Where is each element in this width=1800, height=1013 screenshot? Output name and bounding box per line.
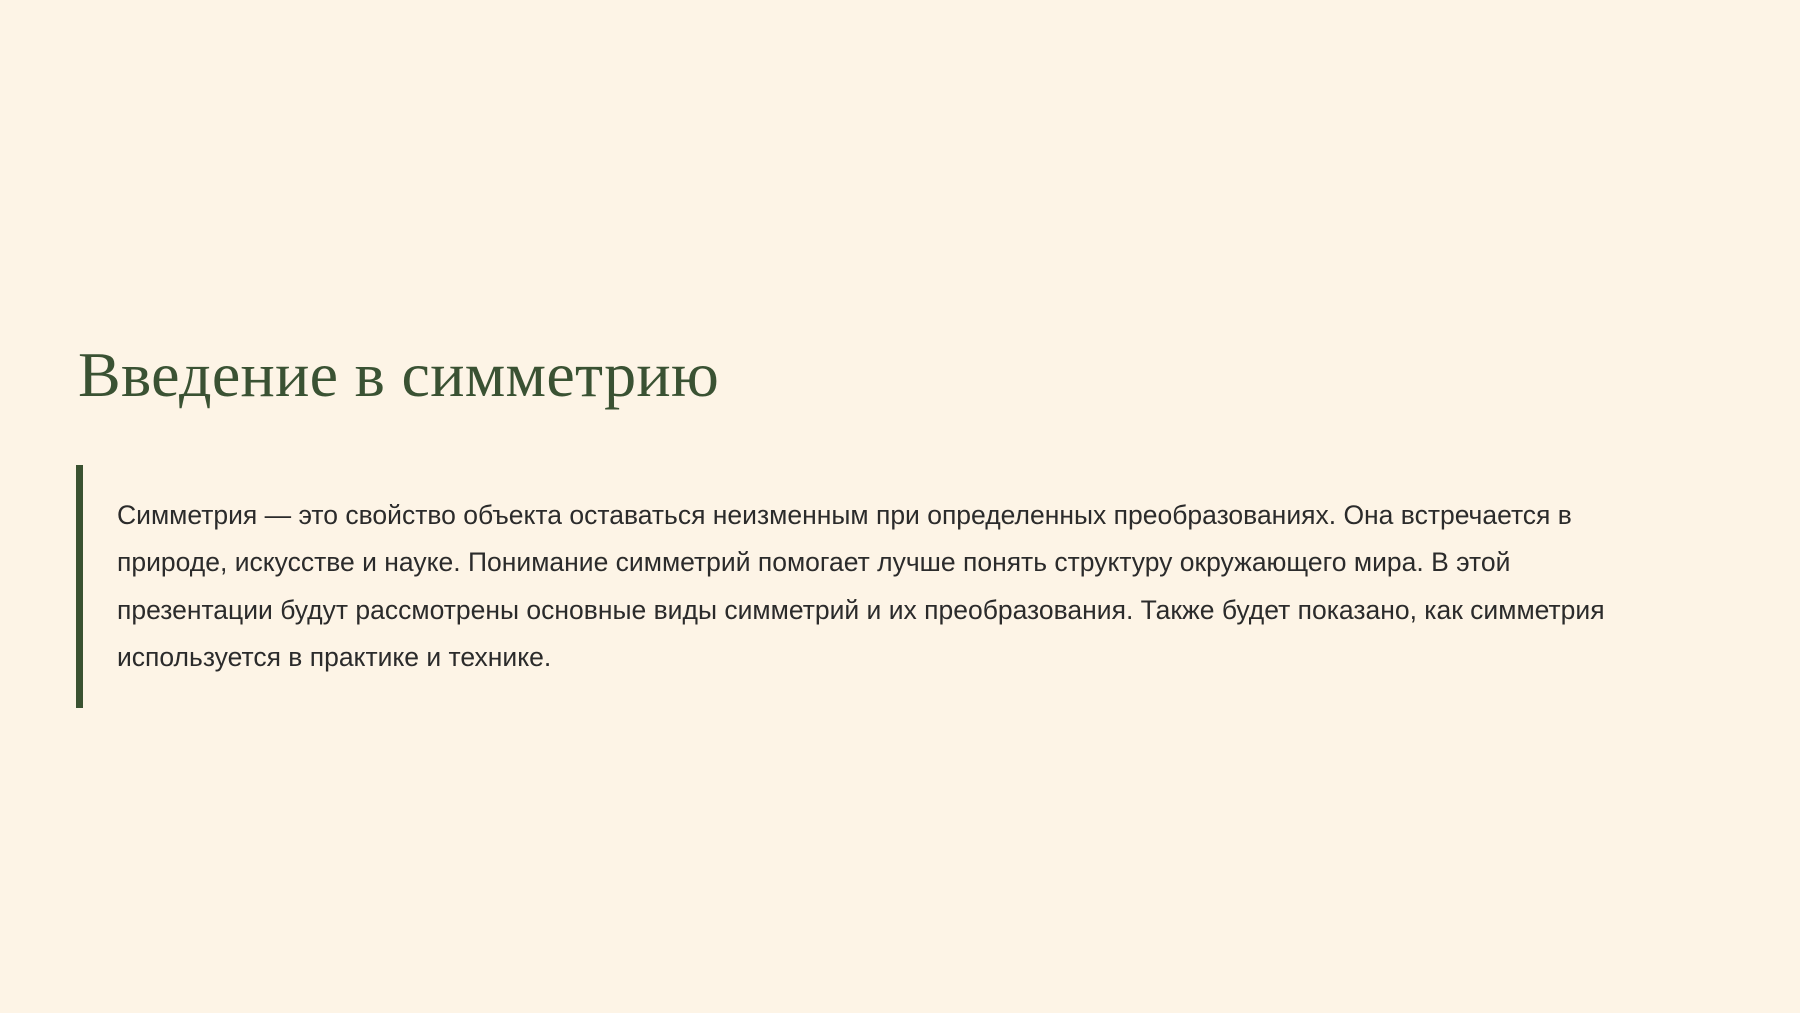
quote-block: Симметрия — это свойство объекта остават…: [76, 465, 1708, 708]
page-title: Введение в симметрию: [78, 339, 719, 411]
presentation-slide: Введение в симметрию Симметрия — это сво…: [0, 0, 1800, 1013]
body-paragraph: Симметрия — это свойство объекта остават…: [117, 492, 1607, 682]
accent-bar: [76, 465, 83, 708]
